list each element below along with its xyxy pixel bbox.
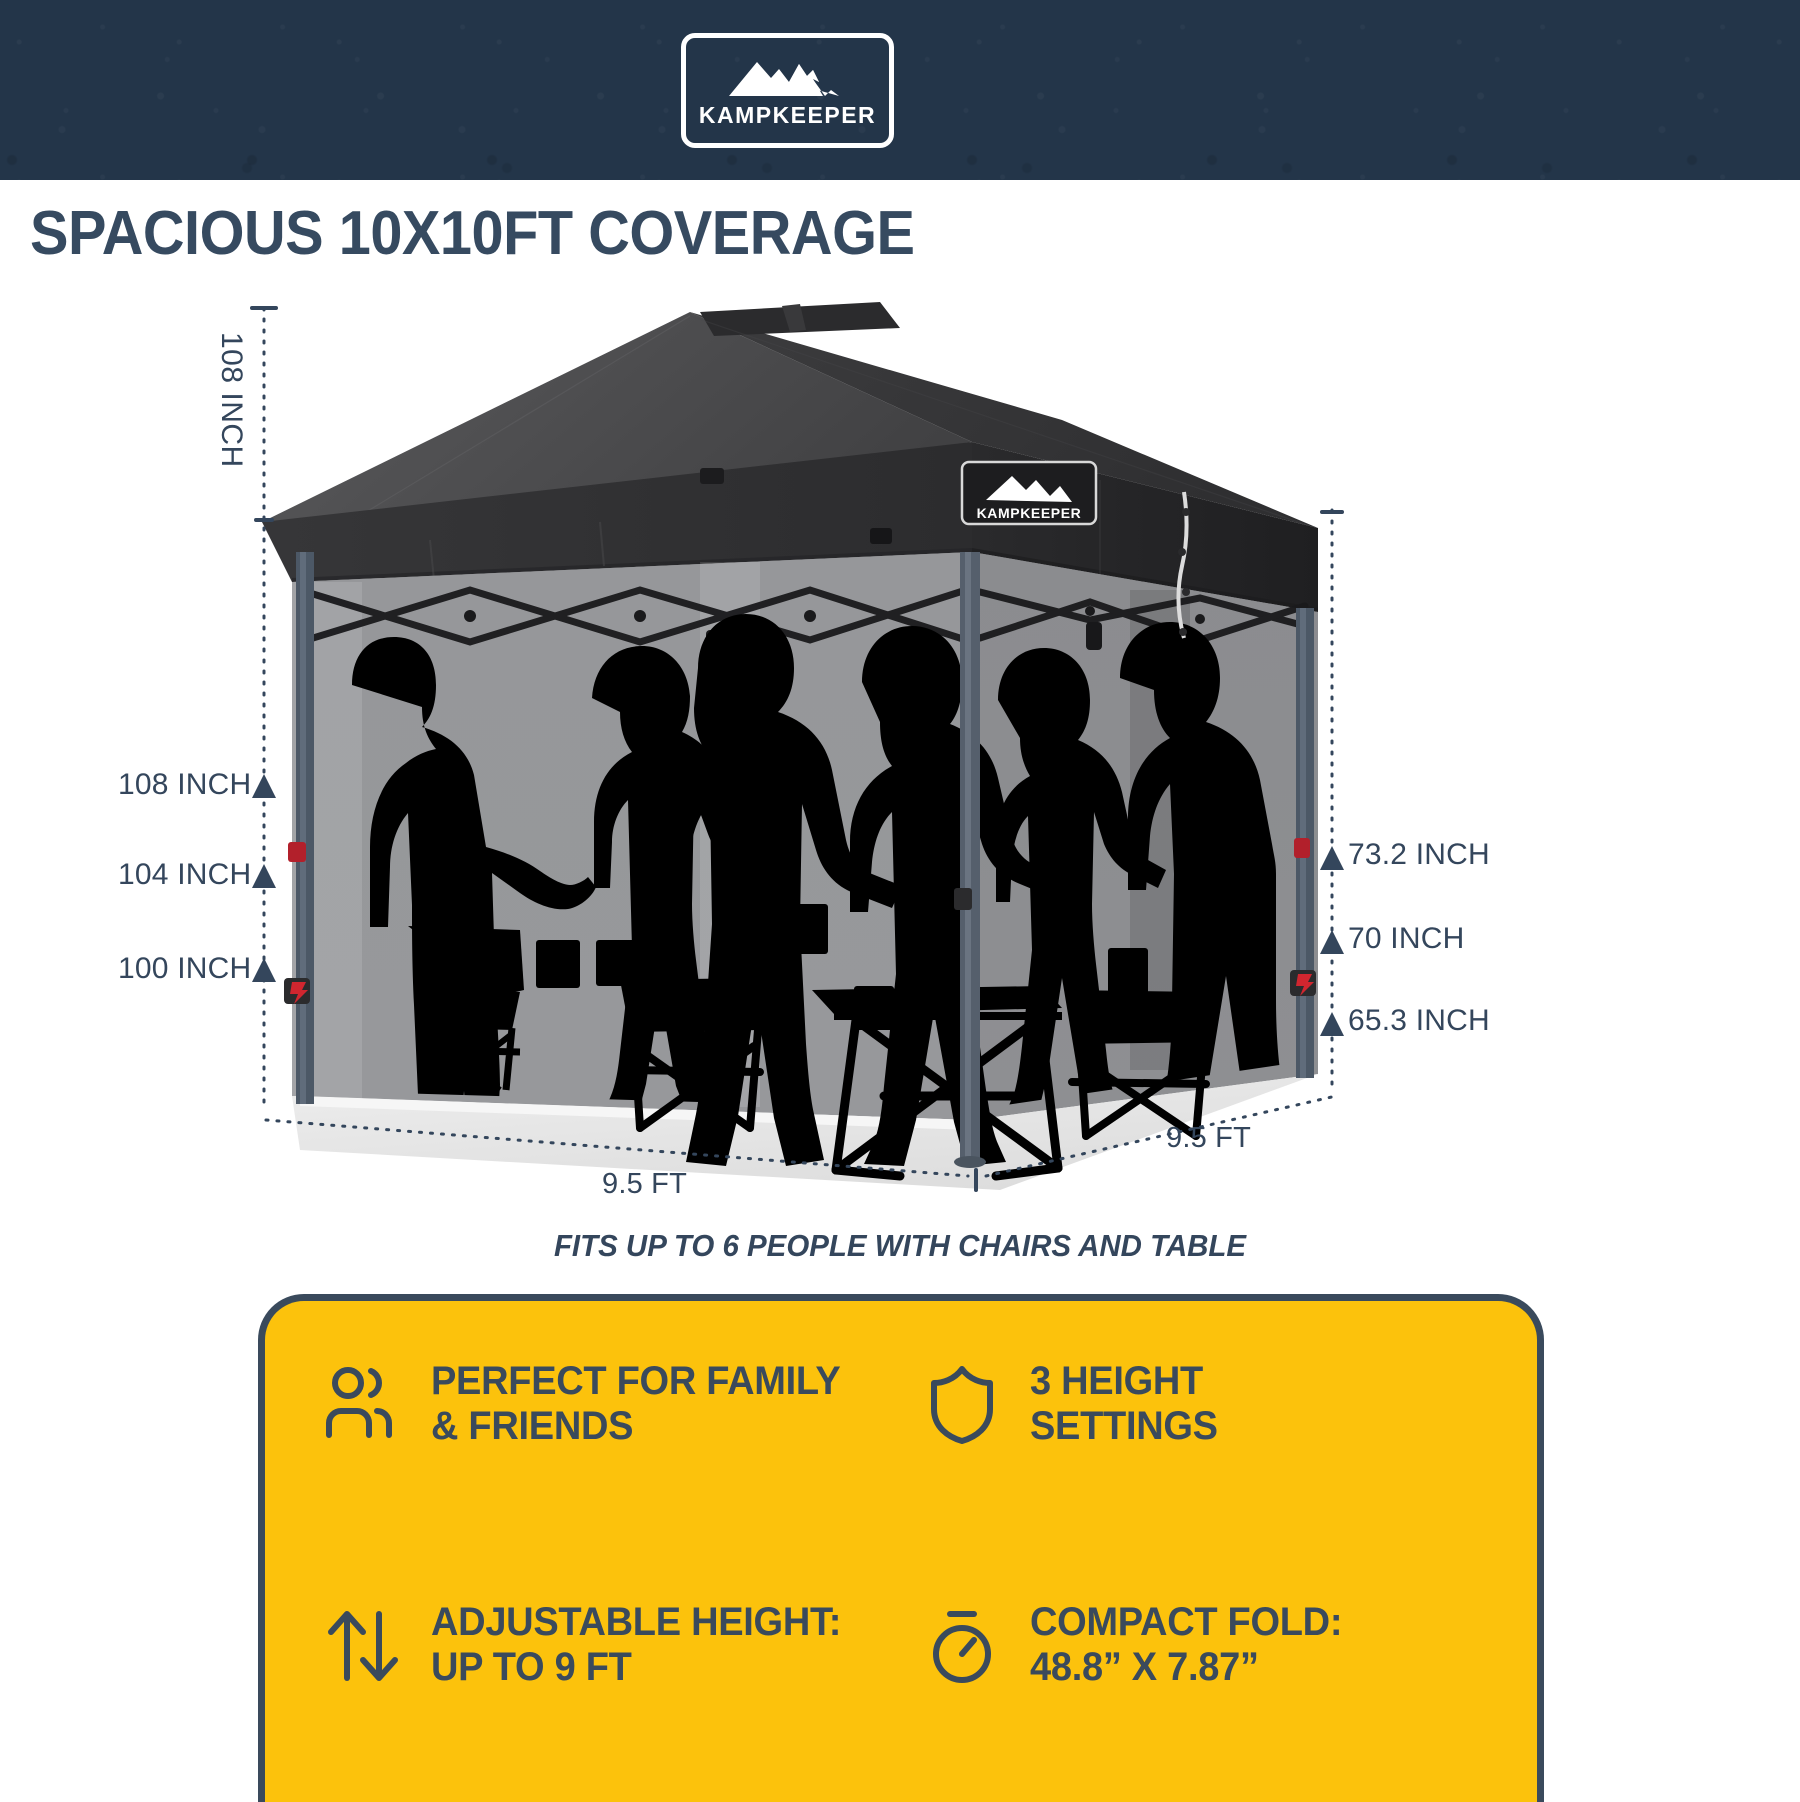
stopwatch-icon	[920, 1604, 1004, 1688]
product-illustration: KAMPKEEPER	[0, 290, 1800, 1270]
feature-line-1: PERFECT FOR FAMILY	[431, 1359, 840, 1403]
feature-line-1: 3 HEIGHT	[1030, 1359, 1203, 1403]
dimension-left-104: 104 INCH	[118, 858, 251, 892]
dimension-left-108: 108 INCH	[118, 768, 251, 802]
up-down-arrows-icon	[321, 1604, 405, 1688]
feature-line-2: & FRIENDS	[431, 1404, 840, 1449]
feature-line-2: SETTINGS	[1030, 1404, 1218, 1449]
feature-compact-fold: COMPACT FOLD: 48.8” X 7.87”	[920, 1600, 1493, 1802]
feature-label: 3 HEIGHT SETTINGS	[1030, 1359, 1218, 1449]
dimension-footprint-side: 9.5 FT	[1166, 1122, 1251, 1155]
mountain-peaks-icon	[727, 52, 849, 100]
dimension-right-73: 73.2 INCH	[1348, 838, 1490, 872]
svg-text:KAMPKEEPER: KAMPKEEPER	[977, 505, 1082, 521]
dimension-right-70: 70 INCH	[1348, 922, 1464, 956]
dimension-right-65: 65.3 INCH	[1348, 1004, 1490, 1038]
page-title: SPACIOUS 10X10FT COVERAGE	[30, 198, 914, 269]
feature-line-2: UP TO 9 FT	[431, 1645, 841, 1690]
features-panel: PERFECT FOR FAMILY & FRIENDS 3 HEIGHT SE…	[258, 1294, 1544, 1802]
feature-label: ADJUSTABLE HEIGHT: UP TO 9 FT	[431, 1600, 841, 1690]
feature-perfect-for-family: PERFECT FOR FAMILY & FRIENDS	[321, 1359, 894, 1562]
dimension-footprint-front: 9.5 FT	[602, 1168, 687, 1201]
brand-logo: KAMPKEEPER	[681, 33, 894, 148]
page-header: KAMPKEEPER	[0, 0, 1800, 180]
feature-line-2: 48.8” X 7.87”	[1030, 1645, 1342, 1690]
dimension-left-100: 100 INCH	[118, 952, 251, 986]
feature-adjustable-height: ADJUSTABLE HEIGHT: UP TO 9 FT	[321, 1600, 894, 1802]
brand-logo-text: KAMPKEEPER	[699, 102, 876, 129]
dimension-overall-height: 108 INCH	[214, 332, 248, 468]
feature-height-settings: 3 HEIGHT SETTINGS	[920, 1359, 1493, 1562]
feature-label: COMPACT FOLD: 48.8” X 7.87”	[1030, 1600, 1342, 1690]
canopy-logo-patch: KAMPKEEPER	[962, 462, 1096, 524]
two-people-icon	[321, 1363, 405, 1447]
capacity-caption: FITS UP TO 6 PEOPLE WITH CHAIRS AND TABL…	[45, 1228, 1755, 1264]
shield-icon	[920, 1363, 1004, 1447]
feature-line-1: COMPACT FOLD:	[1030, 1600, 1342, 1644]
feature-label: PERFECT FOR FAMILY & FRIENDS	[431, 1359, 840, 1449]
feature-line-1: ADJUSTABLE HEIGHT:	[431, 1600, 841, 1644]
